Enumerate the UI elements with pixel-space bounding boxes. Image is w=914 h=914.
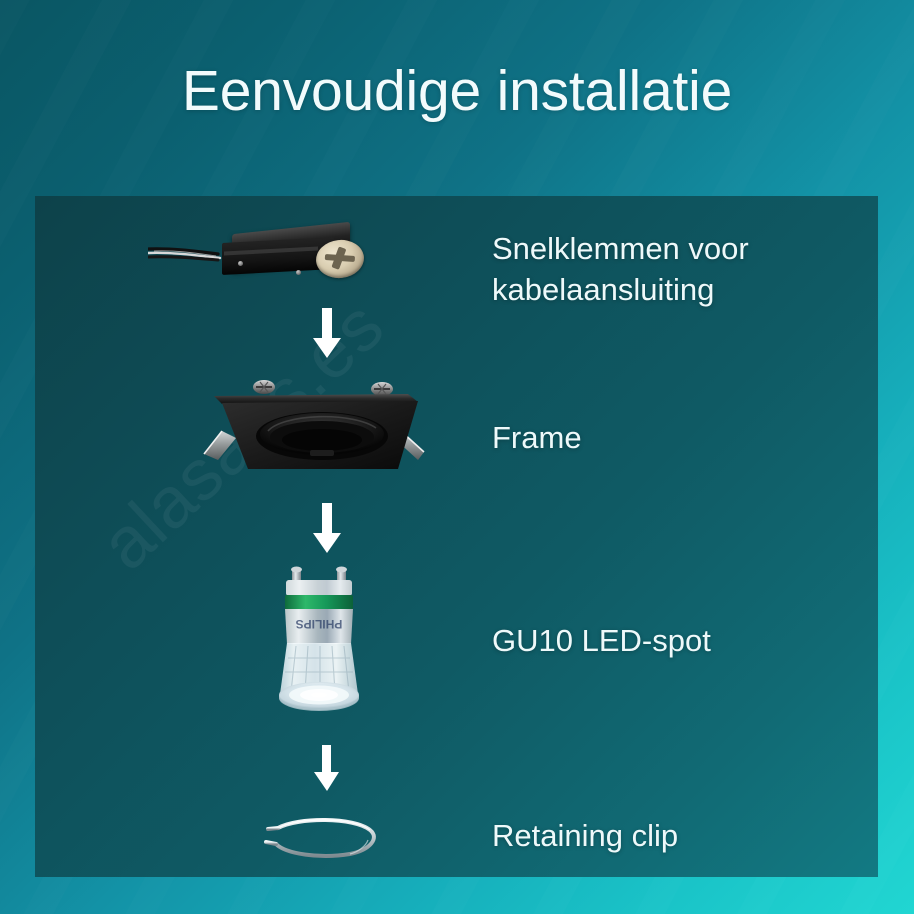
part-retaining-clip [258, 808, 388, 868]
lamp-green-band [285, 595, 353, 610]
label-frame: Frame [492, 418, 582, 459]
part-frame [186, 374, 436, 476]
page-title: Eenvoudige installatie [0, 62, 914, 122]
label-terminal-block: Snelklemmen voor kabelaansluiting [492, 229, 749, 311]
arrow-down-icon-2 [306, 503, 348, 555]
part-terminal-block [148, 218, 378, 298]
arrow-down-icon-3 [308, 745, 346, 793]
frame-graphic [186, 374, 436, 476]
terminal-screw-right [296, 270, 301, 275]
label-retaining-clip: Retaining clip [492, 816, 678, 857]
part-gu10-lamp: PHILIPS [258, 566, 380, 724]
retaining-clip-graphic [258, 808, 388, 868]
label-gu10-lamp: GU10 LED-spot [492, 621, 711, 662]
frame-screw-right [371, 382, 393, 396]
product-infographic: Eenvoudige installatie alasans.es Snelkl… [0, 0, 914, 914]
arrow-down-icon-1 [306, 308, 348, 360]
frame-screw-left [253, 380, 275, 394]
gu10-lamp-graphic: PHILIPS [258, 566, 380, 724]
diagram-panel: alasans.es [35, 196, 878, 877]
frame-spring-clip-left [204, 431, 236, 460]
lamp-brand-text: PHILIPS [296, 617, 343, 631]
terminal-screw-left [238, 261, 243, 266]
